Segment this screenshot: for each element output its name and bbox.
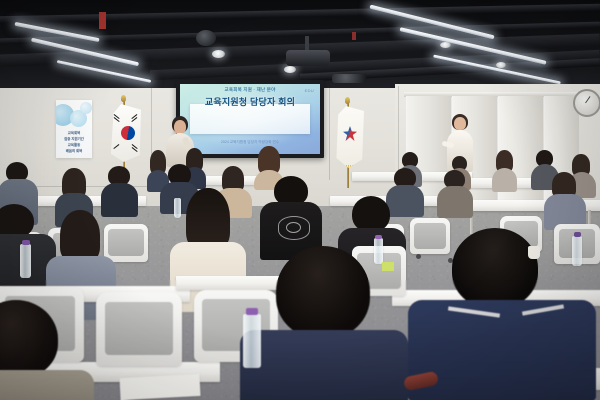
poster-line-4: 배움의 회복 bbox=[56, 148, 92, 153]
poster-circle bbox=[80, 102, 92, 114]
chair[interactable] bbox=[410, 218, 450, 254]
slide-title-band bbox=[190, 104, 310, 134]
flag-finial-left bbox=[121, 95, 126, 102]
slide-title: 교육지원청 담당자 회의 bbox=[180, 95, 320, 108]
water-bottle[interactable] bbox=[374, 238, 383, 264]
bottle-cap bbox=[175, 195, 180, 199]
ceiling bbox=[0, 0, 600, 92]
water-bottle[interactable] bbox=[572, 236, 582, 266]
institution-emblem bbox=[343, 126, 357, 141]
foreground-hair-right bbox=[452, 228, 538, 308]
chair[interactable] bbox=[96, 292, 182, 366]
foreground-body bbox=[240, 330, 408, 400]
foreground-hair bbox=[276, 246, 370, 338]
chair-mesh-back bbox=[108, 229, 143, 256]
ceiling-camera bbox=[196, 30, 216, 46]
slide-subtitle: 교육회복 지원 · 재난 분야 bbox=[180, 87, 320, 93]
bottle-cap bbox=[574, 232, 581, 237]
slide-footer: 2024 교육지원청 담당자 역량강화 연수 bbox=[180, 140, 320, 145]
chair[interactable] bbox=[104, 224, 148, 262]
projection-screen: EDU 교육회복 지원 · 재난 분야 교육지원청 담당자 회의 2024 교육… bbox=[176, 80, 324, 158]
bottle-cap bbox=[375, 235, 382, 239]
chair-mesh-back bbox=[105, 302, 174, 355]
water-bottle[interactable] bbox=[243, 314, 261, 368]
ceiling-spotlight bbox=[212, 50, 225, 58]
projector bbox=[286, 50, 330, 66]
ceiling-spotlight bbox=[440, 42, 451, 48]
presentation-slide: EDU 교육회복 지원 · 재난 분야 교육지원청 담당자 회의 2024 교육… bbox=[180, 84, 320, 154]
ceiling-spotlight bbox=[496, 62, 506, 68]
conference-room-photo: EDU 교육회복 지원 · 재난 분야 교육지원청 담당자 회의 2024 교육… bbox=[0, 0, 600, 400]
flag-finial-right bbox=[345, 97, 350, 104]
ceiling-marker bbox=[99, 12, 106, 29]
staff-head bbox=[454, 117, 466, 130]
taeguk-circle bbox=[119, 124, 137, 142]
attendee-hair bbox=[186, 188, 230, 250]
ceiling-speaker bbox=[332, 74, 366, 83]
desk-item-cup[interactable] bbox=[528, 246, 540, 259]
event-poster: 교육회복 집중 지원기간 교육활동 배움의 회복 bbox=[56, 100, 92, 158]
poster-line-2: 집중 지원기간 bbox=[56, 136, 92, 141]
water-bottle[interactable] bbox=[174, 198, 181, 218]
desk-item-sticky-note[interactable] bbox=[382, 262, 394, 271]
institution-flag bbox=[334, 106, 364, 168]
presenter-head bbox=[174, 120, 186, 134]
ceiling-marker-2 bbox=[352, 32, 356, 40]
wall-clock bbox=[573, 89, 600, 117]
chair-mesh-back bbox=[414, 223, 446, 249]
poster-line-1: 교육회복 bbox=[56, 130, 92, 135]
desk-item-paper[interactable] bbox=[119, 374, 200, 400]
bottle-cap bbox=[22, 240, 30, 245]
bottle-cap bbox=[246, 308, 258, 315]
ceiling-spotlight bbox=[284, 66, 296, 73]
poster-line-3: 교육활동 bbox=[56, 142, 92, 147]
water-bottle[interactable] bbox=[20, 244, 31, 278]
foreground-body-right bbox=[408, 300, 596, 400]
